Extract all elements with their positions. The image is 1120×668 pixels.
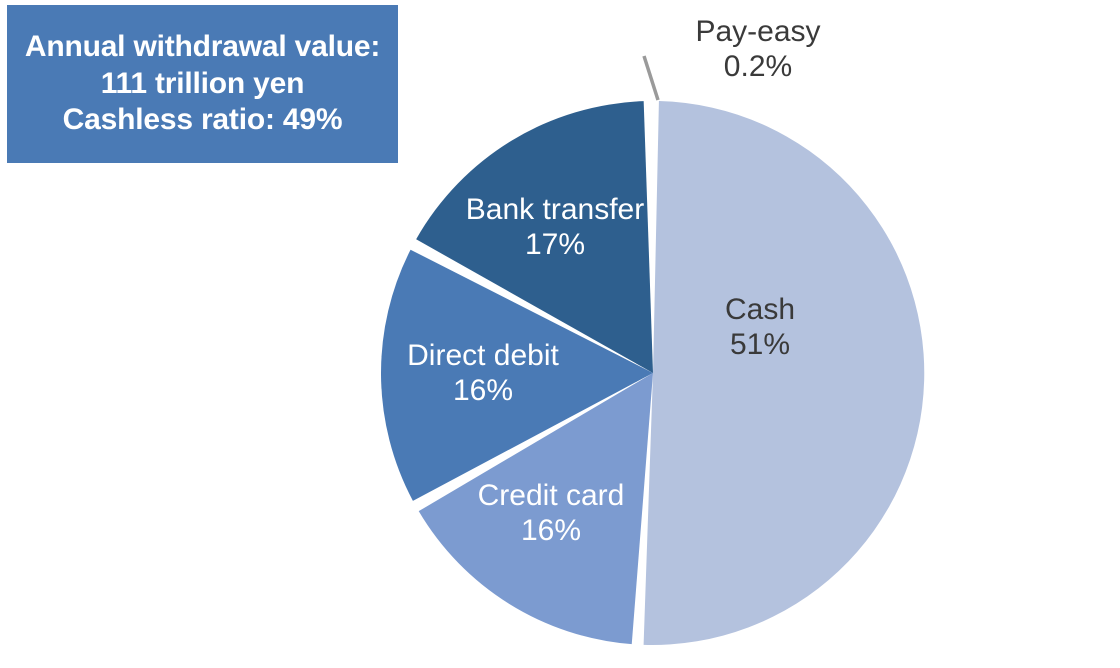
pie-slice-group <box>381 101 924 645</box>
pay-easy-leader-line <box>644 56 658 100</box>
pie-chart-figure: Annual withdrawal value: 111 trillion ye… <box>0 0 1120 668</box>
pie-graphic <box>0 0 1120 668</box>
pie-slice-cash <box>644 101 925 645</box>
